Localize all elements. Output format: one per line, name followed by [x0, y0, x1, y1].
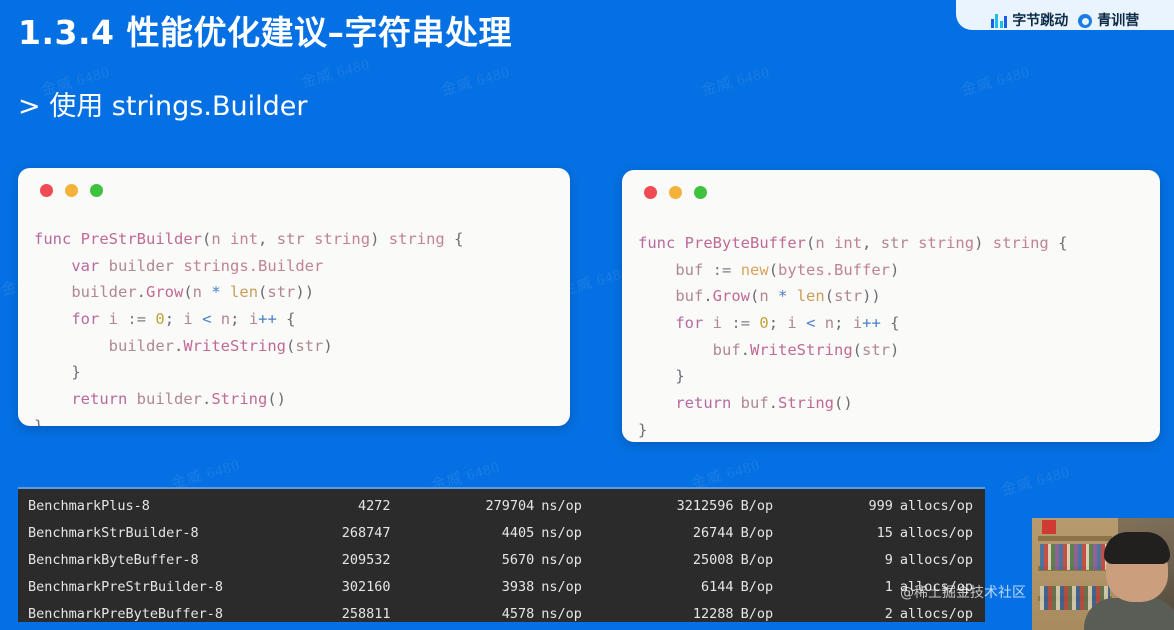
- table-row: BenchmarkByteBuffer-8 209532 5670 ns/op …: [22, 546, 973, 573]
- benchmark-bytes: 3212596: [582, 498, 734, 514]
- unit-ns: ns/op: [534, 552, 582, 568]
- watermark-text: 金威 6480: [298, 53, 372, 93]
- code-card-pre-str-builder: func PreStrBuilder(n int, str string) st…: [18, 168, 570, 426]
- brand-label: 字节跳动: [1012, 14, 1068, 28]
- program-group: 青训营: [1078, 14, 1139, 28]
- program-label: 青训营: [1097, 14, 1139, 28]
- minimize-dot-icon[interactable]: [669, 186, 682, 199]
- benchmark-allocs: 2: [773, 606, 893, 622]
- maximize-dot-icon[interactable]: [90, 184, 103, 197]
- unit-allocs: allocs/op: [893, 606, 973, 622]
- unit-ns: ns/op: [534, 606, 582, 622]
- unit-bytes: B/op: [734, 525, 774, 541]
- benchmark-allocs: 1: [773, 579, 893, 595]
- table-row: BenchmarkStrBuilder-8 268747 4405 ns/op …: [22, 519, 973, 546]
- benchmark-iterations: 4272: [263, 498, 391, 514]
- unit-ns: ns/op: [534, 525, 582, 541]
- code-card-pre-byte-buffer: func PreByteBuffer(n int, str string) st…: [622, 170, 1160, 442]
- table-row: BenchmarkPreStrBuilder-8 302160 3938 ns/…: [22, 573, 973, 600]
- unit-ns: ns/op: [534, 579, 582, 595]
- benchmark-bytes: 25008: [582, 552, 734, 568]
- code-block-right: func PreByteBuffer(n int, str string) st…: [638, 230, 1067, 442]
- benchmark-ns: 4578: [391, 606, 535, 622]
- presenter-webcam[interactable]: [1032, 518, 1174, 630]
- unit-allocs: allocs/op: [893, 498, 973, 514]
- presenter-body: [1084, 598, 1174, 630]
- benchmark-allocs: 999: [773, 498, 893, 514]
- benchmark-bytes: 6144: [582, 579, 734, 595]
- watermark-text: 金威 6480: [958, 61, 1032, 101]
- benchmark-output-terminal: BenchmarkPlus-8 4272 279704 ns/op 321259…: [18, 487, 985, 622]
- code-block-left: func PreStrBuilder(n int, str string) st…: [34, 226, 463, 426]
- brand-group: 字节跳动: [991, 14, 1069, 28]
- benchmark-name: BenchmarkPlus-8: [22, 498, 263, 514]
- unit-bytes: B/op: [734, 498, 774, 514]
- bytedance-logo-icon: [991, 14, 1008, 28]
- unit-bytes: B/op: [734, 579, 774, 595]
- benchmark-allocs: 15: [773, 525, 893, 541]
- table-row: BenchmarkPreByteBuffer-8 258811 4578 ns/…: [22, 600, 973, 622]
- presentation-slide: 金威 6480 金威 6480 金威 6480 金威 6480 金威 6480 …: [0, 0, 1174, 630]
- benchmark-ns: 279704: [391, 498, 535, 514]
- unit-bytes: B/op: [734, 552, 774, 568]
- benchmark-ns: 3938: [391, 579, 535, 595]
- benchmark-name: BenchmarkPreStrBuilder-8: [22, 579, 263, 595]
- minimize-dot-icon[interactable]: [65, 184, 78, 197]
- benchmark-bytes: 12288: [582, 606, 734, 622]
- window-traffic-lights: [40, 184, 103, 197]
- close-dot-icon[interactable]: [644, 186, 657, 199]
- watermark-text: 金威 6480: [998, 461, 1072, 501]
- unit-allocs: allocs/op: [893, 525, 973, 541]
- presenter-hair: [1104, 532, 1170, 564]
- channel-watermark: @稀土掘金技术社区: [900, 582, 1026, 602]
- benchmark-iterations: 302160: [263, 579, 391, 595]
- close-dot-icon[interactable]: [40, 184, 53, 197]
- shelf-books-row-1: [1040, 544, 1110, 570]
- benchmark-allocs: 9: [773, 552, 893, 568]
- unit-bytes: B/op: [734, 606, 774, 622]
- benchmark-name: BenchmarkByteBuffer-8: [22, 552, 263, 568]
- benchmark-iterations: 268747: [263, 525, 391, 541]
- shelf-red-box: [1042, 520, 1056, 534]
- benchmark-name: BenchmarkStrBuilder-8: [22, 525, 263, 541]
- slide-subtitle: > 使用 strings.Builder: [18, 84, 307, 123]
- unit-ns: ns/op: [534, 498, 582, 514]
- benchmark-ns: 4405: [391, 525, 535, 541]
- unit-allocs: allocs/op: [893, 552, 973, 568]
- benchmark-bytes: 26744: [582, 525, 734, 541]
- watermark-text: 金威 6480: [698, 61, 772, 101]
- partner-badge: 字节跳动 青训营: [956, 0, 1174, 30]
- benchmark-ns: 5670: [391, 552, 535, 568]
- watermark-text: 金威 6480: [438, 61, 512, 101]
- benchmark-name: BenchmarkPreByteBuffer-8: [22, 606, 263, 622]
- benchmark-iterations: 209532: [263, 552, 391, 568]
- program-logo-icon: [1078, 14, 1092, 28]
- benchmark-iterations: 258811: [263, 606, 391, 622]
- table-row: BenchmarkPlus-8 4272 279704 ns/op 321259…: [22, 492, 973, 519]
- slide-title: 1.3.4 性能优化建议–字符串处理: [18, 6, 512, 54]
- maximize-dot-icon[interactable]: [694, 186, 707, 199]
- window-traffic-lights: [644, 186, 707, 199]
